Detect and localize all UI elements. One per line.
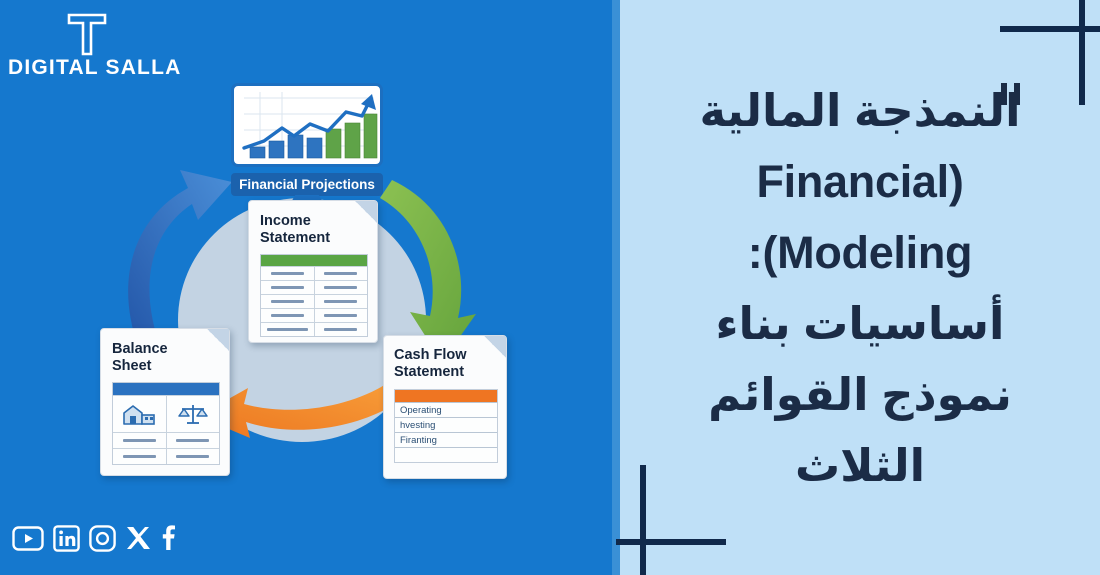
tick-mark [1001, 83, 1007, 105]
table-row: Firanting [395, 432, 497, 447]
infographic-canvas: DIGITAL SALLA [0, 0, 1100, 575]
tick-mark [1014, 83, 1020, 105]
crosshair-horizontal-line [616, 539, 726, 545]
letter-t-outline-icon [63, 10, 111, 56]
projections-bar-chart [234, 86, 380, 164]
table-row [261, 308, 367, 322]
monitor-label: Financial Projections [231, 173, 383, 196]
table-row [395, 447, 497, 462]
table-row [261, 266, 367, 280]
headline-line: أساسيات بناء [645, 288, 1075, 359]
crosshair-vertical-line [640, 465, 646, 575]
table-row [261, 294, 367, 308]
linkedin-icon[interactable] [53, 525, 80, 552]
facebook-icon[interactable] [160, 524, 176, 552]
page-fold-corner [207, 329, 229, 351]
doc-title-income: Income Statement [260, 213, 330, 247]
doc-title-cashflow: Cash Flow Statement [394, 347, 467, 381]
page-fold-corner [484, 336, 506, 358]
table-row-icons [113, 395, 219, 432]
table-header-bar [113, 383, 219, 395]
crosshair-bottom-left [616, 465, 726, 575]
table-row [113, 432, 219, 448]
scales-icon [178, 402, 208, 426]
headline-line: Modeling): [645, 217, 1075, 288]
doc-cash-flow-statement[interactable]: Cash Flow Statement Operating hvesting F… [383, 335, 507, 479]
financial-projections-monitor[interactable]: Financial Projections [231, 83, 383, 203]
doc-title-balance: Balance Sheet [112, 341, 168, 375]
table-row [261, 280, 367, 294]
crosshair-vertical-line [1079, 0, 1085, 105]
table-row [261, 322, 367, 336]
instagram-icon[interactable] [89, 525, 116, 552]
page-title: النمذجة المالية (Financial Modeling): أس… [645, 75, 1075, 501]
headline-line: نموذج القوائم [645, 359, 1075, 430]
page-fold-corner [355, 201, 377, 223]
youtube-icon[interactable] [12, 526, 44, 551]
table-header-bar [261, 255, 367, 266]
balance-sheet-table [112, 382, 220, 465]
doc-balance-sheet[interactable]: Balance Sheet [100, 328, 230, 476]
crosshair-horizontal-line [1000, 26, 1100, 32]
income-statement-table [260, 254, 368, 337]
table-row [113, 448, 219, 464]
building-icon [122, 402, 156, 426]
table-row: Operating [395, 402, 497, 417]
headline-line: (Financial [645, 146, 1075, 217]
table-header-bar [395, 390, 497, 402]
social-links-bar [12, 524, 176, 552]
table-row: hvesting [395, 417, 497, 432]
cash-flow-table: Operating hvesting Firanting [394, 389, 498, 463]
x-twitter-icon[interactable] [125, 524, 151, 552]
doc-income-statement[interactable]: Income Statement [248, 200, 378, 343]
three-statement-cycle-diagram: Financial Projections Income Statement [80, 70, 540, 500]
monitor-screen [231, 83, 383, 167]
arrow-balance-to-projections [128, 170, 232, 346]
